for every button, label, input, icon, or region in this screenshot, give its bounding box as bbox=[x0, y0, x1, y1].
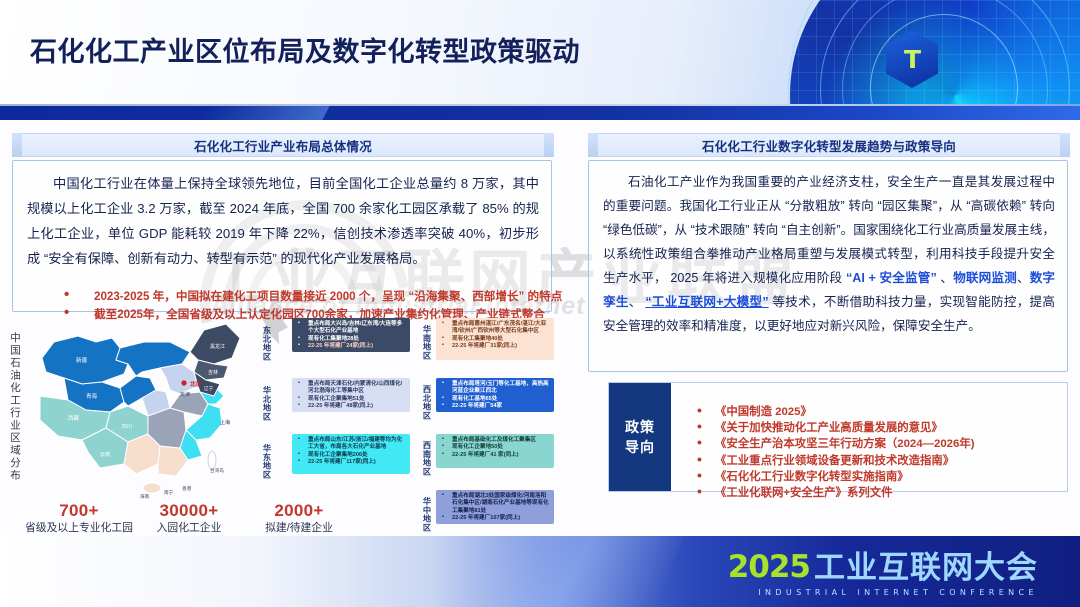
right-text-box: 石油化工产业作为我国重要的产业经济支柱，安全生产一直是其发展过程中的重要问题。我… bbox=[588, 160, 1068, 372]
region-card-northwest[interactable]: 重点布局塔河/玉门等化工基地，高热高河蓝企业聚江西北 现有化工基地65处 22-… bbox=[436, 378, 554, 412]
svg-text:海南: 海南 bbox=[140, 493, 150, 500]
list-item: 重点布局惠州湛江/广东茂名/湛江/大亚湾/钦州/广西钦州等大型石化集中区 bbox=[441, 321, 550, 336]
list-item: 现有化工企聚地50处 bbox=[441, 444, 550, 451]
conference-year: 2025 bbox=[728, 552, 810, 583]
svg-text:黑龙江: 黑龙江 bbox=[210, 343, 225, 350]
header-accent-bar bbox=[0, 106, 1080, 120]
region-tab-central[interactable]: 华中地区 bbox=[418, 494, 431, 534]
region-card-north[interactable]: 重点布局天津石化/内蒙清化/山西煤化/河北渤海化工等集中区 现有化工企聚集地51… bbox=[292, 378, 410, 412]
stat-number: 30000+ bbox=[134, 500, 244, 521]
region-tab-southwest[interactable]: 西南地区 bbox=[418, 438, 431, 478]
list-item: 《关于加快推动化工产业高质量发展的意见》 bbox=[697, 420, 1067, 436]
region-card-southwest[interactable]: 重点布局基础化工及煤化工聚集区 现有化工企聚地50处 22-25 年将建厂41 … bbox=[436, 434, 554, 468]
svg-text:辽宁: 辽宁 bbox=[204, 385, 214, 392]
page-title: 石化化工产业区位布局及数字化转型政策驱动 bbox=[30, 30, 580, 69]
left-header-cap-right bbox=[544, 133, 554, 157]
map-side-label: 中国石油化工行业区域分布 bbox=[5, 322, 21, 492]
region-card-central[interactable]: 重点布局湖北3处国家级煤化/河南洛阳石化集中区/湖南石化产业基地等现有化工集聚地… bbox=[436, 490, 554, 524]
svg-text:上海: 上海 bbox=[220, 419, 230, 426]
svg-text:香港: 香港 bbox=[182, 485, 192, 492]
list-item: 22-25 年将建厂24家(同上) bbox=[297, 343, 406, 350]
list-item: 重点布局塔河/玉门等化工基地，高热高河蓝企业聚江西北 bbox=[441, 381, 550, 396]
list-item: 22-25 年将建厂31家(同上) bbox=[441, 343, 550, 350]
svg-text:台湾岛: 台湾岛 bbox=[210, 467, 224, 474]
policy-block: 政策 导向 《中国制造 2025》 《关于加快推动化工产业高质量发展的意见》 《… bbox=[608, 382, 1068, 492]
list-item: 22-25 年将建厂54家 bbox=[441, 403, 550, 410]
china-map: 北京 天津 新疆 青海 西藏 云南 四川 黑龙江 吉林 辽宁 上海 台湾岛 海南… bbox=[24, 312, 254, 502]
list-item: 22-25 年将建厂117家(同上) bbox=[297, 459, 406, 466]
right-header-cap-left bbox=[588, 133, 598, 157]
svg-text:南宁: 南宁 bbox=[164, 489, 174, 496]
right-panel-header-label: 石化化工行业数字化转型发展趋势与政策导向 bbox=[702, 136, 956, 155]
list-item: 《安全生产治本攻坚三年行动方案（2024—2026年) bbox=[697, 436, 1067, 452]
right-header-cap-right bbox=[1060, 133, 1070, 157]
svg-text:四川: 四川 bbox=[122, 424, 132, 430]
svg-text:云南: 云南 bbox=[100, 451, 110, 458]
slide-root: T 石化化工产业区位布局及数字化转型政策驱动 工业互联网产业联盟 Allianc… bbox=[0, 0, 1080, 607]
list-item: 重点布局天津石化/内蒙清化/山西煤化/河北渤海化工等集中区 bbox=[297, 381, 406, 396]
list-item: 《工业重点行业领域设备更新和技术改造指南》 bbox=[697, 453, 1067, 469]
stat-caption: 拟建/待建企业 bbox=[244, 521, 354, 536]
policy-tag-line2: 导向 bbox=[625, 437, 655, 457]
list-item: 22-25 年将建厂107家(同上) bbox=[441, 515, 550, 522]
svg-text:吉林: 吉林 bbox=[208, 369, 218, 376]
list-item: 《工业化联网+安全生产》系列文件 bbox=[697, 485, 1067, 501]
left-panel-header: 石化化工行业产业布局总体情况 bbox=[12, 133, 554, 157]
slide-footer: 2025 工业互联网大会 INDUSTRIAL INTERNET CONFERE… bbox=[0, 536, 1080, 607]
list-item: 重点布局湖北3处国家级煤化/河南洛阳石化集中区/湖南石化产业基地等现有化工集聚地… bbox=[441, 493, 550, 515]
stat-caption: 入园化工企业 bbox=[134, 521, 244, 536]
region-card-south[interactable]: 重点布局惠州湛江/广东茂名/湛江/大亚湾/钦州/广西钦州等大型石化集中区 现有化… bbox=[436, 318, 554, 360]
stat-number: 2000+ bbox=[244, 500, 354, 521]
region-tab-south[interactable]: 华南地区 bbox=[418, 322, 431, 362]
stat-number: 700+ bbox=[24, 500, 134, 521]
region-tab-north[interactable]: 华北地区 bbox=[258, 382, 271, 424]
list-item: 2023-2025 年，中国拟在建化工项目数量接近 2000 个，呈现 “沿海集… bbox=[64, 288, 584, 306]
region-card-northeast[interactable]: 重点布局大兴岛/吉林/辽东湾/大连等多个大型石化产业基地 现有化工集聚地28处 … bbox=[292, 318, 410, 352]
list-item: 22-25 年将建厂48家(同上) bbox=[297, 403, 406, 410]
region-card-east[interactable]: 重点布局山东/江苏/浙江/福建等均为化工大省，布局各大石化产业基地 现有化工企聚… bbox=[292, 434, 410, 474]
policy-list: 《中国制造 2025》 《关于加快推动化工产业高质量发展的意见》 《安全生产治本… bbox=[671, 399, 1067, 475]
policy-tag-line1: 政策 bbox=[625, 417, 655, 437]
svg-text:西藏: 西藏 bbox=[68, 414, 80, 422]
svg-text:青海: 青海 bbox=[86, 392, 98, 400]
list-item: 22-25 年将建厂41 家(同上) bbox=[441, 452, 550, 459]
policy-tag: 政策 导向 bbox=[609, 383, 671, 491]
conference-logo: 2025 工业互联网大会 INDUSTRIAL INTERNET CONFERE… bbox=[728, 552, 1038, 597]
list-item: 重点布局大兴岛/吉林/辽东湾/大连等多个大型石化产业基地 bbox=[297, 321, 406, 336]
svg-text:天津: 天津 bbox=[180, 391, 190, 398]
region-tab-northeast[interactable]: 东北地区 bbox=[258, 320, 271, 366]
china-map-svg: 北京 天津 新疆 青海 西藏 云南 四川 黑龙江 吉林 辽宁 上海 台湾岛 海南… bbox=[24, 312, 254, 502]
logo-letter: T bbox=[904, 47, 920, 72]
right-paragraph: 石油化工产业作为我国重要的产业经济支柱，安全生产一直是其发展过程中的重要问题。我… bbox=[603, 170, 1055, 338]
list-item: 《中国制造 2025》 bbox=[697, 404, 1067, 420]
region-tab-northwest[interactable]: 西北地区 bbox=[418, 382, 431, 422]
region-tab-east[interactable]: 华东地区 bbox=[258, 440, 271, 482]
conference-name-en: INDUSTRIAL INTERNET CONFERENCE bbox=[728, 588, 1038, 597]
list-item: 《石化化工行业数字化转型实施指南》 bbox=[697, 469, 1067, 485]
footer-sheen bbox=[466, 536, 685, 607]
conference-name-cn: 工业互联网大会 bbox=[814, 552, 1038, 583]
svg-text:新疆: 新疆 bbox=[76, 356, 88, 364]
left-header-cap-left bbox=[12, 133, 22, 157]
left-panel-header-label: 石化化工行业产业布局总体情况 bbox=[194, 136, 372, 155]
svg-text:北京: 北京 bbox=[190, 380, 202, 388]
left-paragraph: 中国化工行业在体量上保持全球领先地位，目前全国化工企业总量约 8 万家，其中规模… bbox=[27, 171, 539, 271]
list-item: 重点布局山东/江苏/浙江/福建等均为化工大省，布局各大石化产业基地 bbox=[297, 437, 406, 452]
right-panel-header: 石化化工行业数字化转型发展趋势与政策导向 bbox=[588, 133, 1070, 157]
